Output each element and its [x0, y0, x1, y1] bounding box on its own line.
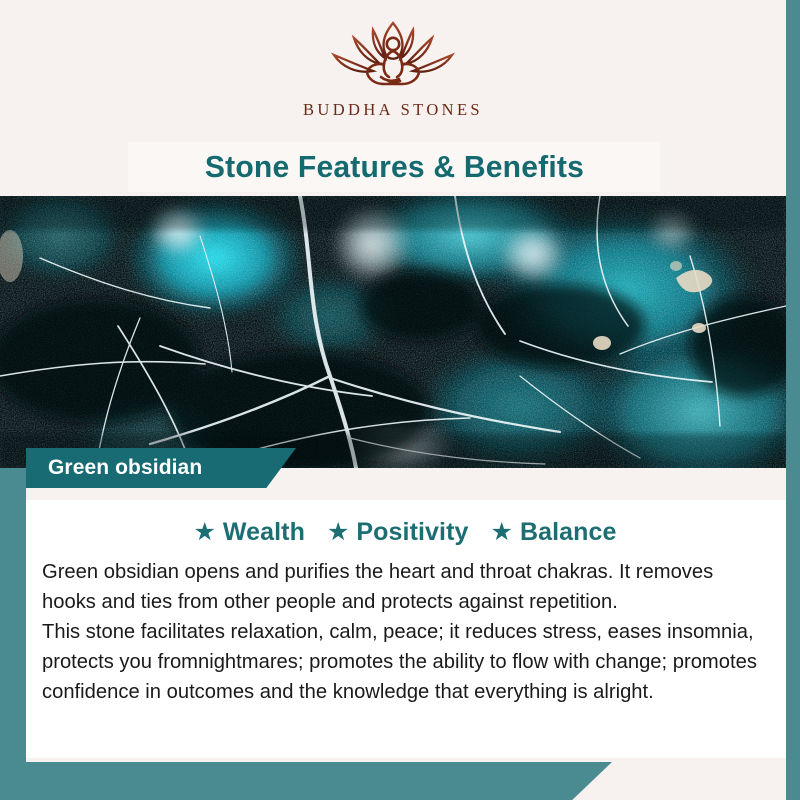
bottom-accent-bar — [0, 762, 612, 800]
star-icon: ★ — [327, 520, 349, 545]
benefit-label: Positivity — [356, 518, 468, 547]
benefit-positivity: ★ Positivity — [327, 518, 469, 547]
title-strip: Stone Features & Benefits — [128, 142, 660, 192]
lotus-meditation-icon — [318, 14, 468, 98]
description-paragraph-2: This stone facilitates relaxation, calm,… — [42, 617, 757, 707]
stone-benefits-infographic: BUDDHA STONES Stone Features & Benefits — [0, 0, 800, 800]
benefits-row: ★ Wealth ★ Positivity ★ Balance — [42, 518, 768, 547]
stone-name-ribbon: Green obsidian — [26, 448, 296, 488]
page-title: Stone Features & Benefits — [204, 149, 583, 185]
description-text: Green obsidian opens and purifies the he… — [42, 557, 757, 707]
brand-logo: BUDDHA STONES — [0, 14, 786, 136]
benefit-label: Balance — [520, 518, 617, 547]
description-paragraph-1: Green obsidian opens and purifies the he… — [42, 557, 757, 617]
stone-photo — [0, 196, 786, 468]
stone-name-label: Green obsidian — [48, 456, 202, 480]
benefit-label: Wealth — [223, 518, 305, 547]
benefit-wealth: ★ Wealth — [193, 518, 305, 547]
header: BUDDHA STONES Stone Features & Benefits — [0, 0, 786, 196]
brand-name: BUDDHA STONES — [303, 100, 483, 120]
page-surface: BUDDHA STONES Stone Features & Benefits — [0, 0, 786, 800]
card-top-gap — [26, 488, 786, 500]
left-accent-rail — [0, 468, 26, 800]
stone-photo-render — [0, 196, 786, 468]
content-card: ★ Wealth ★ Positivity ★ Balance Green ob… — [26, 500, 786, 758]
star-icon: ★ — [491, 520, 513, 545]
benefit-balance: ★ Balance — [491, 518, 617, 547]
star-icon: ★ — [193, 520, 215, 545]
